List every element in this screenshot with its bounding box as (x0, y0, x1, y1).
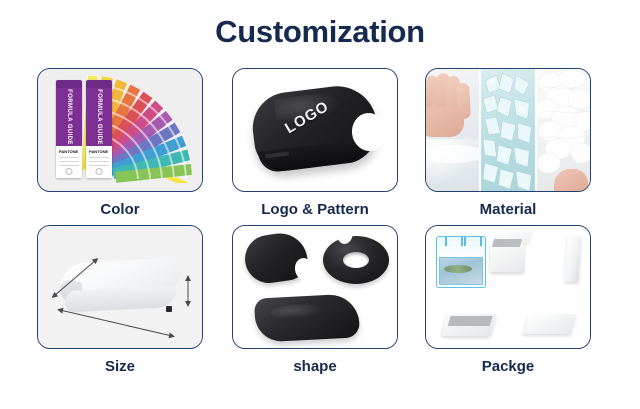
material-panel-shredded-foam (481, 69, 534, 191)
card-label-color: Color (37, 201, 203, 218)
card-cell-color: FORMULA GUIDE PANTONE (37, 68, 203, 218)
booklet-footer: PANTONE (56, 146, 82, 178)
tote-bag-icon (436, 236, 486, 288)
booklet-body: FORMULA GUIDE (86, 88, 112, 146)
booklet-top-band (86, 80, 112, 88)
booklet-brand: PANTONE (59, 149, 78, 154)
material-panel-fiber-fill (537, 69, 590, 191)
booklet-brand: PANTONE (89, 149, 108, 154)
card-logo-pattern-image: LOGO (233, 69, 397, 191)
open-box-icon (490, 244, 524, 272)
coccyx-wedge-cushion-icon (254, 293, 360, 342)
booklet-body: FORMULA GUIDE (56, 88, 82, 146)
flat-tray-icon (441, 314, 497, 336)
card-size-image (38, 226, 202, 348)
card-shape-image (233, 226, 397, 348)
card-cell-logo-pattern: LOGO Logo & Pattern (232, 68, 398, 218)
width-arrow (60, 310, 172, 336)
booklet-footer: PANTONE (86, 146, 112, 178)
card-cell-shape: shape (232, 225, 398, 375)
tray-interior (448, 316, 493, 326)
card-row-1: FORMULA GUIDE PANTONE (0, 68, 640, 225)
donut-ring-cushion-icon (323, 236, 389, 284)
booklet-title: FORMULA GUIDE (66, 89, 72, 145)
card-cell-size: Size (37, 225, 203, 375)
shredded-foam-chips (481, 69, 534, 191)
card-package-image (426, 226, 590, 348)
box-interior (492, 239, 522, 247)
card-label-package: Packge (425, 358, 591, 375)
card-label-material: Material (425, 201, 591, 218)
card-color-image: FORMULA GUIDE PANTONE (38, 69, 202, 191)
pantone-booklet-2: FORMULA GUIDE PANTONE (86, 80, 112, 178)
material-panel-memory-foam (426, 69, 479, 191)
card-label-logo-pattern: Logo & Pattern (232, 201, 398, 218)
customization-page: Customization (0, 0, 640, 409)
customization-card-grid: FORMULA GUIDE PANTONE (0, 68, 640, 382)
hand-icon (554, 169, 588, 191)
flat-box-icon (523, 314, 577, 334)
card-row-2: Size (0, 225, 640, 382)
card-cell-package: Packge (425, 225, 591, 375)
card-label-shape: shape (232, 358, 398, 375)
dimension-arrows-svg (38, 226, 202, 348)
tote-handle (461, 236, 482, 246)
pantone-booklet-1: FORMULA GUIDE PANTONE (56, 80, 82, 178)
page-title: Customization (0, 14, 640, 50)
card-color[interactable]: FORMULA GUIDE PANTONE (37, 68, 203, 192)
card-material[interactable] (425, 68, 591, 192)
hand-icon (426, 73, 470, 135)
memory-foam-surface (426, 139, 479, 191)
material-triptych (426, 69, 590, 191)
booklet-top-band (56, 80, 82, 88)
tote-window (439, 257, 483, 285)
depth-arrow (54, 260, 96, 296)
card-package[interactable] (425, 225, 591, 349)
card-shape[interactable] (232, 225, 398, 349)
cushion-highlight (270, 303, 325, 320)
card-logo-pattern[interactable]: LOGO (232, 68, 398, 192)
card-label-size: Size (37, 358, 203, 375)
booklet-dot (66, 168, 73, 175)
donut-hole (343, 252, 369, 268)
seat-cushion-icon: LOGO (249, 83, 383, 179)
booklet-title: FORMULA GUIDE (96, 89, 102, 145)
card-cell-material: Material (425, 68, 591, 218)
card-size[interactable] (37, 225, 203, 349)
card-material-image (426, 69, 590, 191)
booklet-dot (96, 168, 103, 175)
